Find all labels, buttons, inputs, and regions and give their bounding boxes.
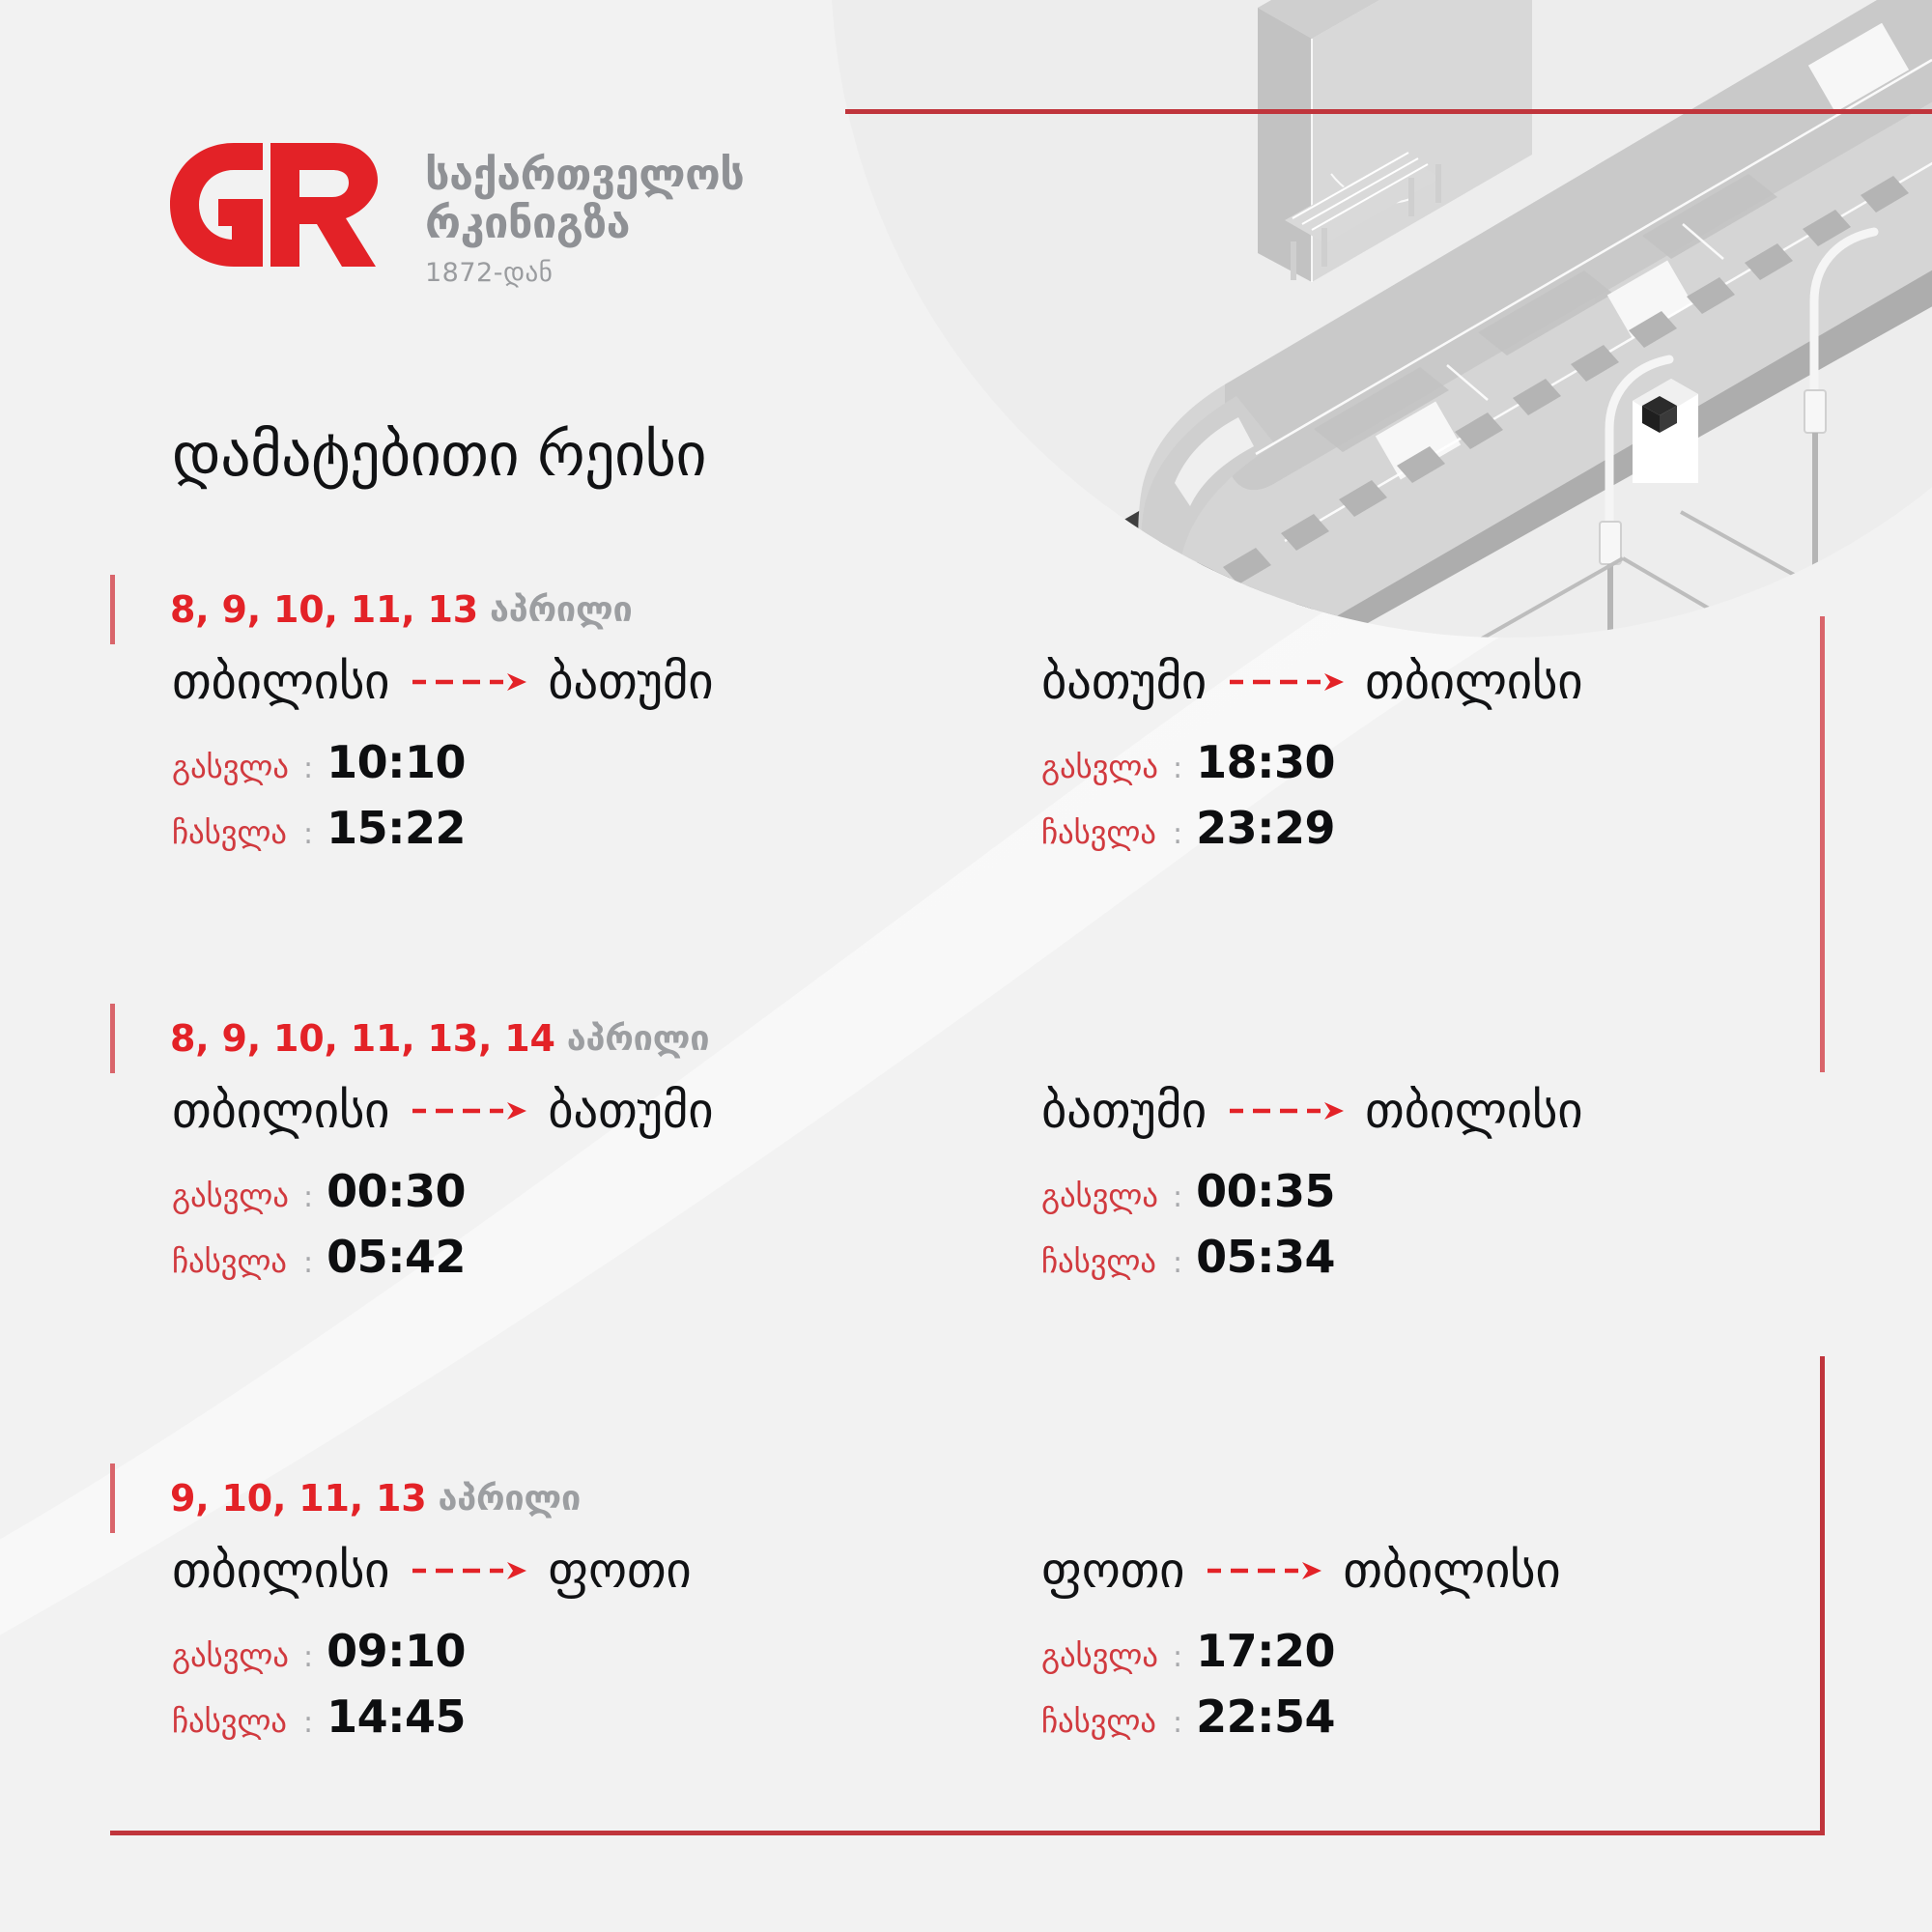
railway-track bbox=[1082, 58, 1932, 583]
label-separator: : bbox=[1173, 1180, 1182, 1214]
label-separator: : bbox=[303, 1640, 313, 1674]
destination-station: თბილისი bbox=[1343, 1543, 1560, 1600]
departure-time: 10:10 bbox=[327, 736, 466, 788]
origin-station: თბილისი bbox=[172, 1083, 389, 1140]
background-circle bbox=[831, 0, 1932, 638]
label-separator: : bbox=[303, 1706, 313, 1740]
origin-station: ბათუმი bbox=[1041, 1083, 1207, 1140]
destination-station: ბათუმი bbox=[548, 654, 713, 711]
arrival-row: ჩასვლა : 14:45 bbox=[172, 1690, 691, 1756]
departure-row: გასვლა : 17:20 bbox=[1041, 1625, 1560, 1690]
arrival-time: 05:34 bbox=[1196, 1231, 1335, 1283]
route-row: თბილისი ბათუმი bbox=[172, 647, 713, 717]
arrival-row: ჩასვლა : 15:22 bbox=[172, 802, 713, 867]
brand-since-label: 1872-დან bbox=[425, 258, 744, 288]
times-group: გასვლა : 00:35 ჩასვლა : 05:34 bbox=[1041, 1165, 1582, 1296]
accent-bar bbox=[110, 1004, 115, 1073]
schedule-block: 9, 10, 11, 13 აპრილი თბილისი ფოთი bbox=[0, 1461, 1932, 1758]
schedule-days: 9, 10, 11, 13 bbox=[170, 1477, 426, 1520]
accent-bar bbox=[110, 1463, 115, 1533]
accent-bar bbox=[110, 575, 115, 644]
departure-row: გასვლა : 18:30 bbox=[1041, 736, 1582, 802]
label-separator: : bbox=[303, 1246, 313, 1280]
route-row: ბათუმი თბილისი bbox=[1041, 1076, 1582, 1146]
brand-name-line-1: საქართველოს bbox=[425, 151, 744, 199]
times-group: გასვლა : 17:20 ჩასვლა : 22:54 bbox=[1041, 1625, 1560, 1756]
arrow-right-icon bbox=[1206, 1560, 1321, 1581]
destination-station: ფოთი bbox=[548, 1543, 691, 1600]
times-group: გასვლა : 18:30 ჩასვლა : 23:29 bbox=[1041, 736, 1582, 867]
arrival-time: 22:54 bbox=[1196, 1690, 1335, 1743]
platform-shelter bbox=[1258, 0, 1532, 282]
schedule-days: 8, 9, 10, 11, 13 bbox=[170, 588, 478, 631]
departure-row: გასვლა : 10:10 bbox=[172, 736, 713, 802]
arrival-time: 23:29 bbox=[1196, 802, 1335, 854]
direction-return: ბათუმი თბილისი გასვლა : 18:30 bbox=[1041, 647, 1582, 867]
label-separator: : bbox=[1173, 1706, 1182, 1740]
departure-time: 17:20 bbox=[1196, 1625, 1335, 1677]
arrow-right-icon bbox=[411, 1100, 526, 1122]
schedule-date-row: 8, 9, 10, 11, 13, 14 აპრილი bbox=[0, 1001, 1932, 1076]
origin-station: თბილისი bbox=[172, 1543, 389, 1600]
direction-outbound: თბილისი ბათუმი გასვლა : 10:10 bbox=[172, 647, 713, 867]
decorative-rule-top bbox=[845, 109, 1932, 114]
destination-station: ბათუმი bbox=[548, 1083, 713, 1140]
departure-label: გასვლა bbox=[172, 748, 299, 785]
arrival-row: ჩასვლა : 05:42 bbox=[172, 1231, 713, 1296]
departure-row: გასვლა : 00:35 bbox=[1041, 1165, 1582, 1231]
label-separator: : bbox=[1173, 1640, 1182, 1674]
origin-station: ბათუმი bbox=[1041, 654, 1207, 711]
signal-box bbox=[1633, 379, 1698, 483]
origin-station: ფოთი bbox=[1041, 1543, 1184, 1600]
schedule-date-row: 9, 10, 11, 13 აპრილი bbox=[0, 1461, 1932, 1536]
arrow-right-icon bbox=[1228, 671, 1344, 693]
label-separator: : bbox=[1173, 752, 1182, 785]
direction-outbound: თბილისი ფოთი გასვლა : 09:10 bbox=[172, 1536, 691, 1756]
times-group: გასვლა : 09:10 ჩასვლა : 14:45 bbox=[172, 1625, 691, 1756]
platform-bench bbox=[1285, 153, 1441, 280]
arrival-label: ჩასვლა bbox=[172, 1242, 299, 1280]
times-group: გასვლა : 00:30 ჩასვლა : 05:42 bbox=[172, 1165, 713, 1296]
schedule-days: 8, 9, 10, 11, 13, 14 bbox=[170, 1017, 555, 1060]
label-separator: : bbox=[303, 817, 313, 851]
direction-return: ბათუმი თბილისი გასვლა : 00:35 bbox=[1041, 1076, 1582, 1296]
platform-edge-tiles bbox=[1165, 176, 1909, 618]
arrival-label: ჩასვლა bbox=[1041, 813, 1169, 851]
arrival-label: ჩასვლა bbox=[172, 813, 299, 851]
arrival-row: ჩასვლა : 22:54 bbox=[1041, 1690, 1560, 1756]
arrival-time: 14:45 bbox=[327, 1690, 466, 1743]
label-separator: : bbox=[303, 752, 313, 785]
departure-time: 18:30 bbox=[1196, 736, 1335, 788]
schedule-month: აპრილი bbox=[567, 1019, 710, 1059]
direction-return: ფოთი თბილისი გასვლა : 17:20 bbox=[1041, 1536, 1560, 1756]
brand-name-line-2: რკინიგზა bbox=[425, 199, 744, 247]
arrow-right-icon bbox=[1228, 1100, 1344, 1122]
train bbox=[1138, 0, 1932, 647]
departure-time: 00:35 bbox=[1196, 1165, 1335, 1217]
route-row: თბილისი ფოთი bbox=[172, 1536, 691, 1605]
times-group: გასვლა : 10:10 ჩასვლა : 15:22 bbox=[172, 736, 713, 867]
label-separator: : bbox=[303, 1180, 313, 1214]
arrival-time: 15:22 bbox=[327, 802, 466, 854]
departure-time: 09:10 bbox=[327, 1625, 466, 1677]
departure-row: გასვლა : 00:30 bbox=[172, 1165, 713, 1231]
departure-row: გასვლა : 09:10 bbox=[172, 1625, 691, 1690]
label-separator: : bbox=[1173, 1246, 1182, 1280]
arrival-row: ჩასვლა : 05:34 bbox=[1041, 1231, 1582, 1296]
decorative-rule-bottom-horizontal bbox=[110, 1831, 1825, 1835]
departure-label: გასვლა bbox=[172, 1177, 299, 1214]
page-title: დამატებითი რეისი bbox=[172, 419, 706, 490]
schedule-month: აპრილი bbox=[438, 1479, 581, 1519]
route-row: თბილისი ბათუმი bbox=[172, 1076, 713, 1146]
destination-station: თბილისი bbox=[1365, 1083, 1582, 1140]
arrow-right-icon bbox=[411, 671, 526, 693]
arrival-label: ჩასვლა bbox=[1041, 1702, 1169, 1740]
schedule-month: აპრილი bbox=[490, 590, 633, 630]
departure-label: გასვლა bbox=[1041, 1636, 1169, 1674]
arrival-time: 05:42 bbox=[327, 1231, 466, 1283]
schedule-date-row: 8, 9, 10, 11, 13 აპრილი bbox=[0, 572, 1932, 647]
arrival-label: ჩასვლა bbox=[1041, 1242, 1169, 1280]
origin-station: თბილისი bbox=[172, 654, 389, 711]
schedule-block: 8, 9, 10, 11, 13, 14 აპრილი თბილისი ბათუ… bbox=[0, 1001, 1932, 1298]
departure-label: გასვლა bbox=[1041, 1177, 1169, 1214]
label-separator: : bbox=[1173, 817, 1182, 851]
route-row: ბათუმი თბილისი bbox=[1041, 647, 1582, 717]
arrival-row: ჩასვლა : 23:29 bbox=[1041, 802, 1582, 867]
departure-label: გასვლა bbox=[1041, 748, 1169, 785]
brand-logo[interactable]: საქართველოს რკინიგზა 1872-დან bbox=[170, 143, 744, 288]
route-row: ფოთი თბილისი bbox=[1041, 1536, 1560, 1605]
departure-time: 00:30 bbox=[327, 1165, 466, 1217]
arrival-label: ჩასვლა bbox=[172, 1702, 299, 1740]
gr-logo-icon bbox=[170, 143, 392, 267]
arrow-right-icon bbox=[411, 1560, 526, 1581]
destination-station: თბილისი bbox=[1365, 654, 1582, 711]
schedule-block: 8, 9, 10, 11, 13 აპრილი თბილისი ბათუმი bbox=[0, 572, 1932, 869]
direction-outbound: თბილისი ბათუმი გასვლა : 00:30 bbox=[172, 1076, 713, 1296]
departure-label: გასვლა bbox=[172, 1636, 299, 1674]
